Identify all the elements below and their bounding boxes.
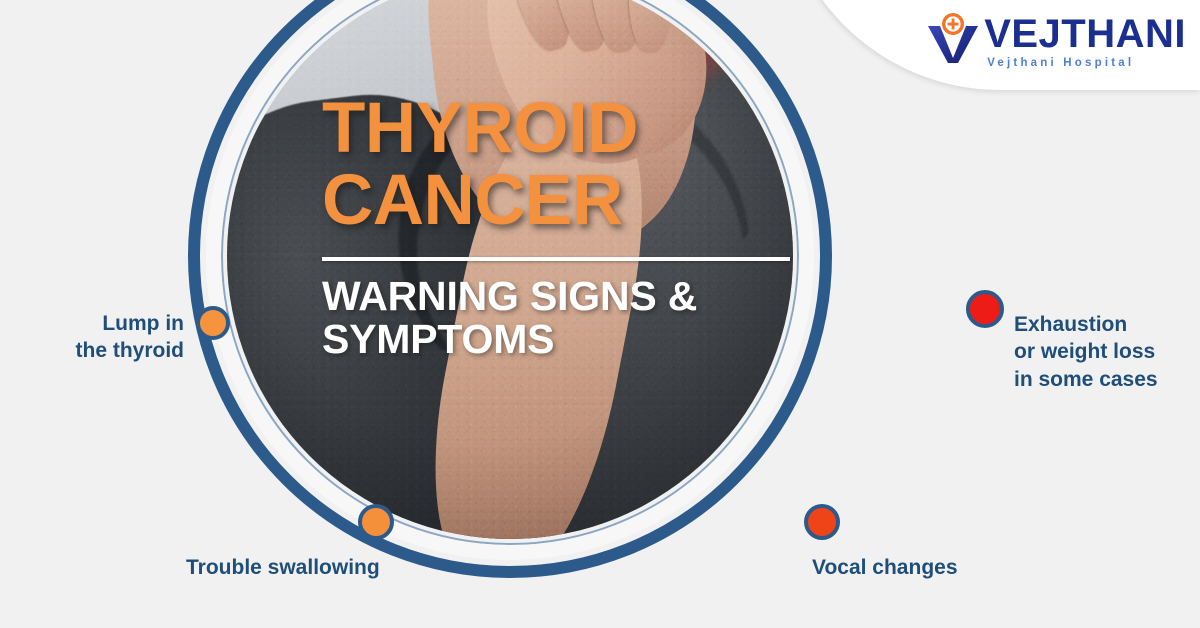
page-subtitle-line1: WARNING SIGNS & bbox=[322, 275, 842, 318]
callout-label-exhaustion: Exhaustion or weight loss in some cases bbox=[1014, 311, 1158, 393]
callout-label-lump-line1: Lump in bbox=[12, 310, 184, 337]
callout-label-vocal: Vocal changes bbox=[812, 554, 958, 581]
callout-label-swallowing: Trouble swallowing bbox=[186, 554, 380, 581]
page-title-line2: CANCER bbox=[322, 168, 842, 234]
callout-label-swallowing-line1: Trouble swallowing bbox=[186, 554, 380, 581]
page-title-line1: THYROID bbox=[322, 96, 842, 162]
brand-text-column: VEJTHANI Vejthani Hospital bbox=[984, 12, 1186, 69]
brand-panel: VEJTHANI Vejthani Hospital bbox=[780, 0, 1200, 90]
callout-dot-vocal[interactable] bbox=[804, 504, 840, 540]
callout-dot-swallowing[interactable] bbox=[358, 504, 394, 540]
thyroid-cancer-infographic: THYROID CANCER WARNING SIGNS & SYMPTOMS … bbox=[0, 0, 1200, 628]
callout-label-lump-line2: the thyroid bbox=[12, 337, 184, 364]
title-divider bbox=[322, 257, 790, 261]
medical-cross-in-circle-over-v-icon bbox=[924, 12, 982, 64]
callout-label-exhaustion-line1: Exhaustion bbox=[1014, 311, 1158, 338]
callout-label-exhaustion-line2: or weight loss bbox=[1014, 338, 1158, 365]
callout-dot-lump[interactable] bbox=[196, 306, 230, 340]
callout-label-exhaustion-line3: in some cases bbox=[1014, 366, 1158, 393]
callout-label-vocal-line1: Vocal changes bbox=[812, 554, 958, 581]
brand-name: VEJTHANI bbox=[984, 14, 1186, 54]
callout-dot-exhaustion[interactable] bbox=[966, 290, 1004, 328]
callout-label-lump: Lump in the thyroid bbox=[12, 310, 184, 365]
headline-block: THYROID CANCER WARNING SIGNS & SYMPTOMS bbox=[322, 96, 842, 362]
brand-lockup[interactable]: VEJTHANI Vejthani Hospital bbox=[924, 12, 1186, 69]
page-subtitle-line2: SYMPTOMS bbox=[322, 318, 842, 361]
brand-tagline: Vejthani Hospital bbox=[987, 57, 1134, 69]
